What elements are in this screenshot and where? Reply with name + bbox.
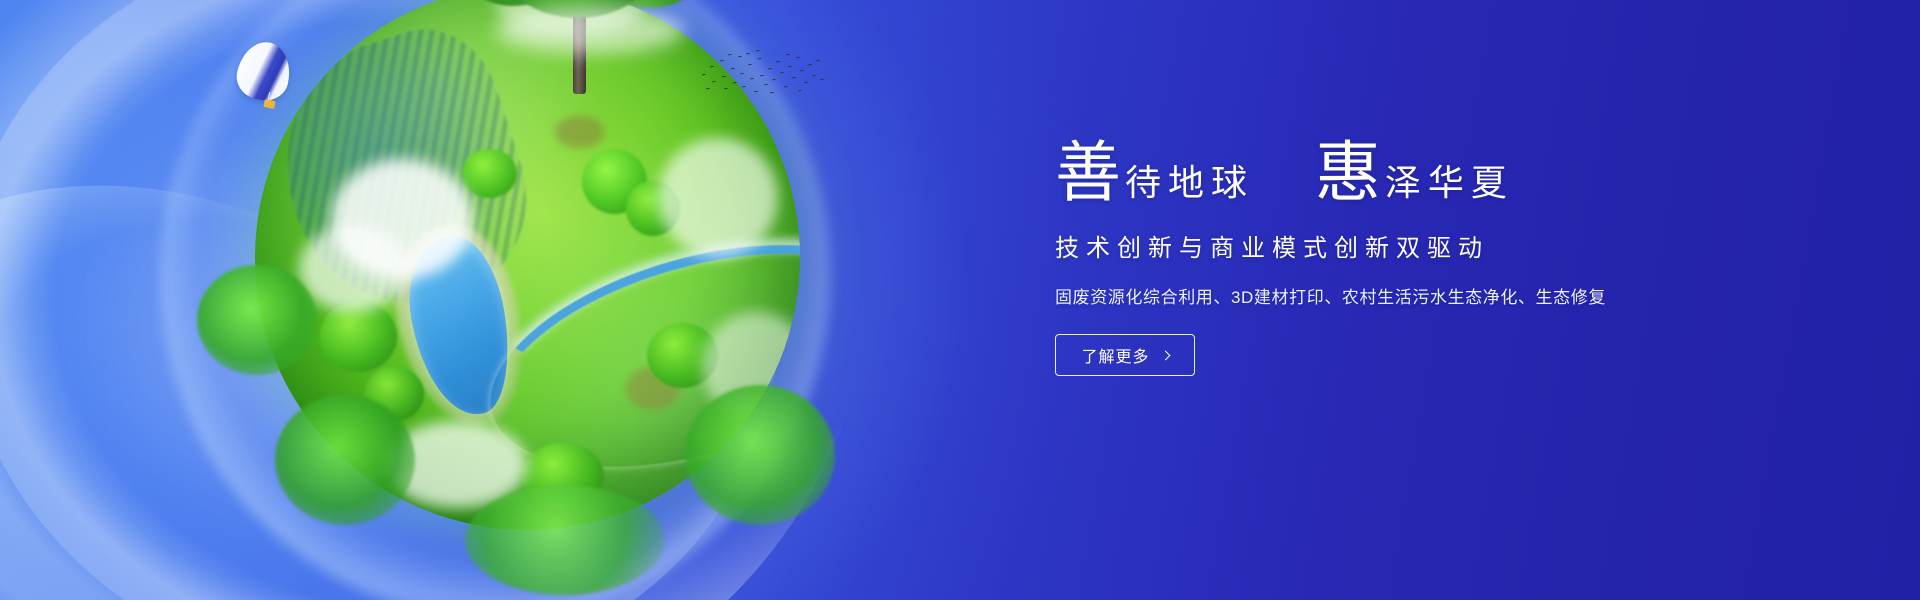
cloud-icon (658, 138, 778, 258)
bird-icon (750, 78, 754, 82)
bird-icon (776, 61, 780, 65)
bird-icon (808, 64, 812, 68)
bird-icon (722, 76, 726, 80)
bird-icon (746, 53, 750, 57)
bird-icon (820, 79, 824, 83)
fringe-tree (275, 395, 415, 525)
bird-icon (724, 88, 728, 92)
earth-patch (555, 116, 604, 149)
headline-char-large-2: 惠 (1315, 134, 1381, 211)
fringe-tree (197, 265, 317, 375)
bush (462, 149, 517, 198)
bird-icon (728, 54, 732, 58)
bird-icon (731, 68, 735, 72)
bird-icon (788, 66, 792, 70)
balloon-basket (263, 99, 275, 109)
cloud-icon (299, 225, 408, 312)
bird-icon (733, 82, 737, 86)
bird-icon (768, 68, 772, 72)
bird-icon (772, 79, 776, 83)
page-description: 固废资源化综合利用、3D建材打印、农村生活污水生态净化、生态修复 (1055, 283, 1755, 308)
bird-icon (706, 88, 710, 92)
bird-icon (738, 56, 742, 60)
bird-icon (740, 73, 744, 77)
bird-icon (804, 82, 808, 86)
learn-more-label: 了解更多 (1081, 343, 1149, 367)
fringe-tree (685, 385, 835, 525)
page-subtitle: 技术创新与商业模式创新双驱动 (1055, 228, 1755, 263)
bird-icon (800, 70, 804, 74)
headline-group-2: 惠泽华夏 (1315, 140, 1514, 206)
bird-icon (702, 74, 706, 78)
bird-icon (816, 60, 820, 64)
bird-icon (712, 81, 716, 85)
balloon-envelope (233, 37, 296, 105)
tree-mist (495, 6, 685, 54)
bird-icon (784, 86, 788, 90)
bird-icon (754, 91, 758, 95)
headline-char-large-1: 善 (1055, 134, 1121, 211)
hero-copy: 善待地球 惠泽华夏 技术创新与商业模式创新双驱动 固废资源化综合利用、3D建材打… (1055, 140, 1755, 376)
bird-icon (786, 54, 790, 58)
headline-chars-small-1: 待地球 (1125, 163, 1254, 204)
headline-group-1: 善待地球 (1055, 140, 1254, 206)
bird-icon (796, 57, 800, 61)
hot-air-balloon-icon (238, 42, 294, 122)
chevron-right-icon (1160, 350, 1170, 360)
headline-chars-small-2: 泽华夏 (1385, 163, 1514, 204)
bird-icon (760, 75, 764, 79)
bird-icon (710, 66, 714, 70)
bird-icon (758, 58, 762, 62)
learn-more-button[interactable]: 了解更多 (1055, 334, 1195, 376)
bird-icon (720, 60, 724, 64)
bird-icon (764, 84, 768, 88)
bird-icon (756, 50, 760, 54)
bird-icon (798, 90, 802, 94)
hero-banner: 善待地球 惠泽华夏 技术创新与商业模式创新双驱动 固废资源化综合利用、3D建材打… (0, 0, 1920, 600)
tree-icon (455, 0, 695, 98)
bird-icon (812, 75, 816, 79)
fringe-tree (465, 485, 665, 595)
bird-icon (792, 77, 796, 81)
bird-flock-icon (698, 48, 823, 96)
bird-icon (770, 92, 774, 96)
bird-icon (748, 64, 752, 68)
bird-icon (780, 72, 784, 76)
bird-icon (742, 86, 746, 90)
page-title: 善待地球 惠泽华夏 (1055, 140, 1755, 206)
